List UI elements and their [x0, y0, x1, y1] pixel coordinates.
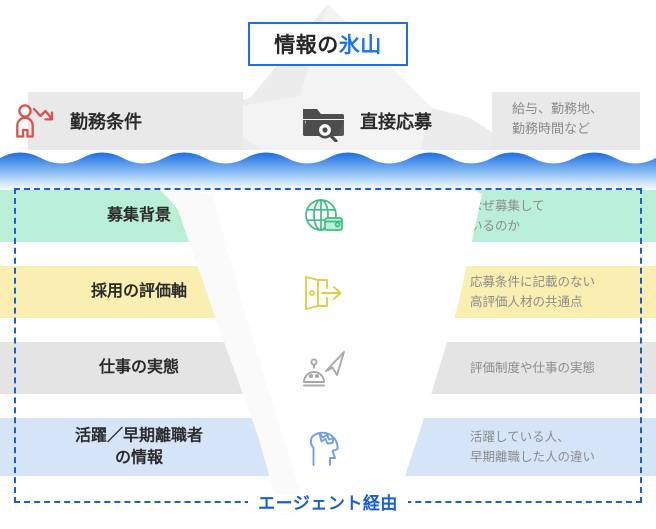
- underwater-row-3-label: 活躍／早期離職者 の情報: [34, 425, 244, 468]
- above-item-work-conditions: 勤務条件: [12, 100, 142, 142]
- robot-cursor-icon: [298, 345, 350, 391]
- title-prefix: 情報の: [274, 34, 339, 57]
- underwater-row-0-label: 募集背景: [34, 205, 244, 227]
- underwater-row-0-note: なぜ募集して いるのか: [470, 196, 545, 236]
- person-decline-icon: [12, 100, 58, 142]
- underwater-row-1-note: 応募条件に記載のない 高評価人材の共通点: [470, 272, 595, 312]
- underwater-row-3-note: 活躍している人、 早期離職した人の違い: [470, 427, 595, 467]
- underwater-row-2-note: 評価制度や仕事の実態: [470, 358, 595, 378]
- above-item-direct-apply: 直接応募: [300, 100, 432, 142]
- underwater-section: 募集背景 なぜ募集して いるのか 採用の評価軸: [0, 186, 656, 529]
- agent-route-label-text: エージェント経由: [248, 494, 408, 513]
- page-title: 情報の氷山: [248, 22, 408, 66]
- water-surface: [0, 148, 656, 190]
- head-puzzle-icon: [298, 424, 350, 470]
- underwater-row-1: 採用の評価軸 応募条件に記載のない 高評価人材の共通点: [0, 266, 656, 318]
- above-item-label-direct-apply: 直接応募: [360, 108, 432, 134]
- underwater-row-3: 活躍／早期離職者 の情報 活躍している人、 早期離職した人の違い: [0, 418, 656, 476]
- infographic-root: 情報の氷山 勤務条件: [0, 0, 656, 529]
- globe-wallet-icon: [298, 193, 350, 239]
- page-title-text: 情報の氷山: [274, 29, 382, 59]
- above-item-label-work-conditions: 勤務条件: [70, 108, 142, 134]
- agent-route-label: エージェント経由: [0, 489, 656, 514]
- above-water-right-note: 給与、勤務地、 勤務時間など: [512, 99, 603, 139]
- underwater-row-2: 仕事の実態 評価制度や仕事の実態: [0, 342, 656, 394]
- underwater-row-0: 募集背景 なぜ募集して いるのか: [0, 190, 656, 242]
- underwater-row-2-label: 仕事の実態: [34, 357, 244, 379]
- title-highlight: 氷山: [339, 34, 382, 57]
- door-exit-icon: [298, 269, 350, 315]
- underwater-row-1-label: 採用の評価軸: [34, 281, 244, 303]
- folder-search-icon: [300, 100, 348, 142]
